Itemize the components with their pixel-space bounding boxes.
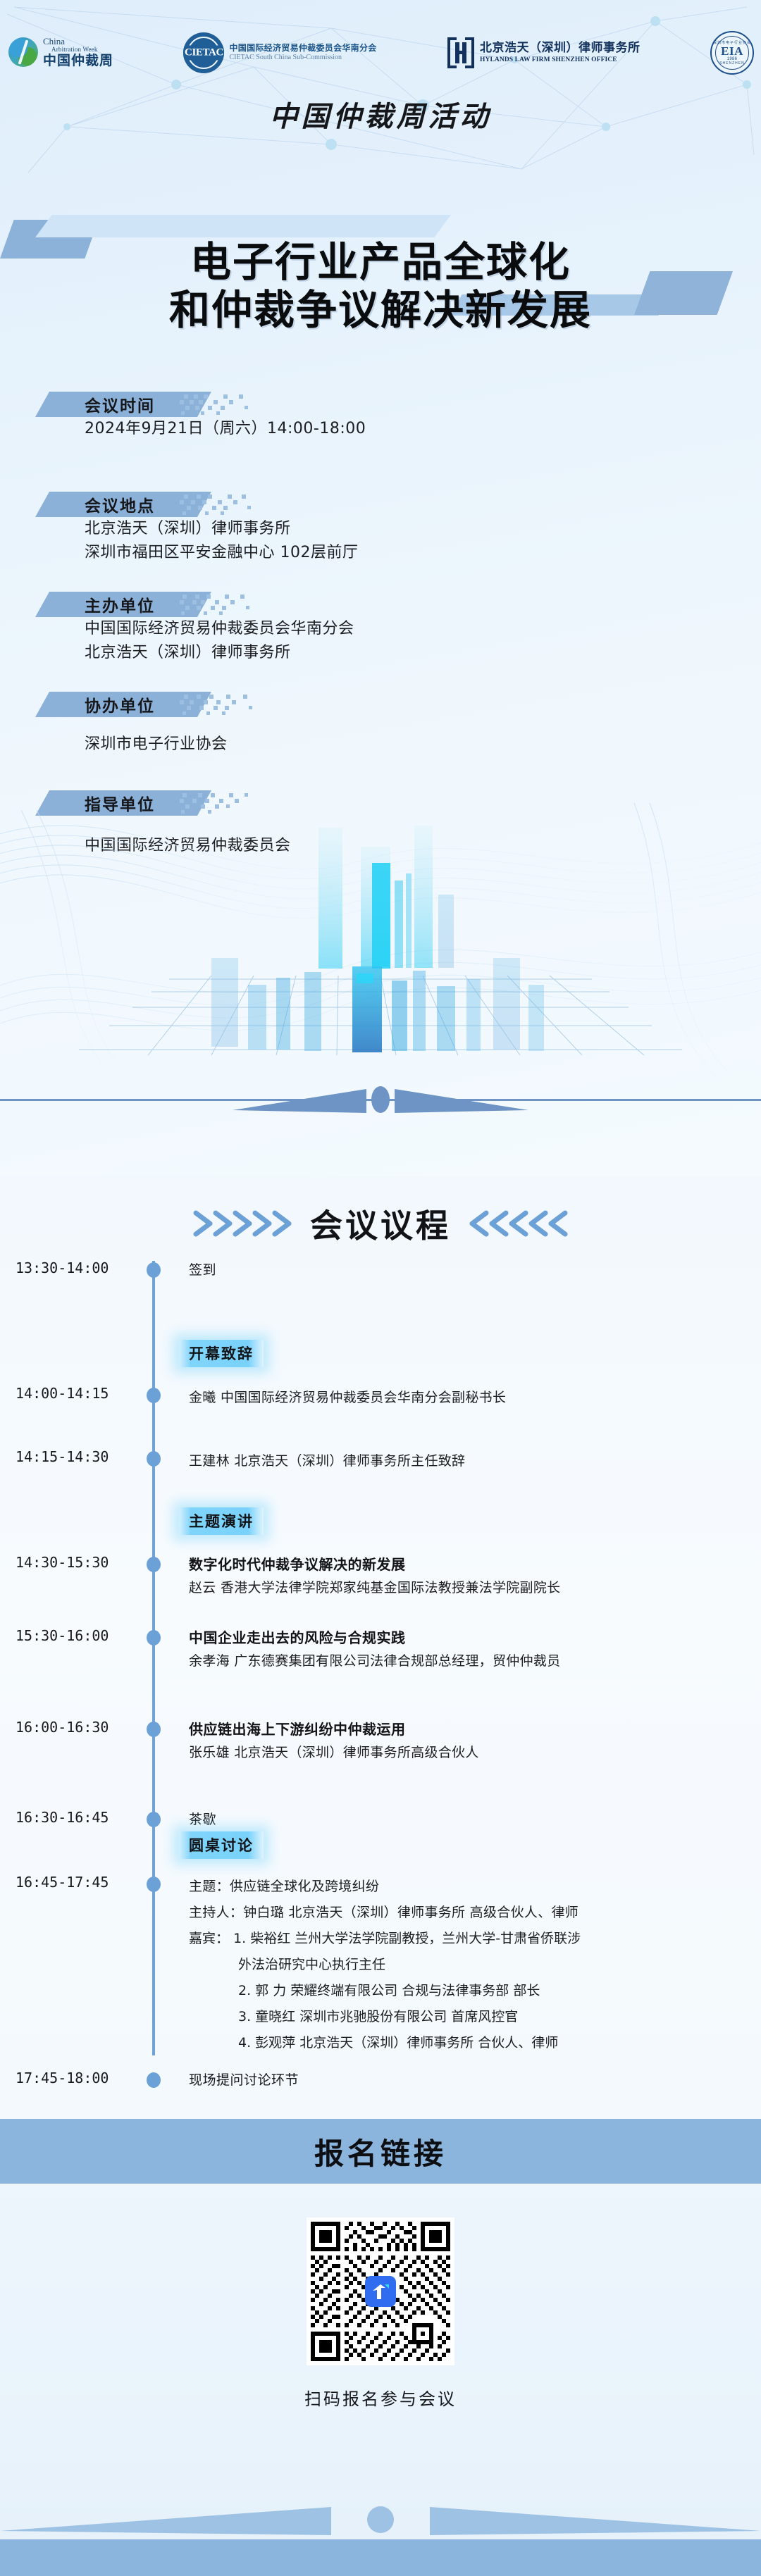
- roundtable-topic: 主题：供应链全球化及跨境纠纷: [189, 1874, 738, 1900]
- roundtable-guest-1: 1. 柴裕红 兰州大学法学院副教授，兰州大学-甘肃省侨联涉: [233, 1931, 581, 1946]
- caw-en-line1: China: [43, 37, 113, 46]
- cietac-mark-text: CIETAC: [183, 45, 224, 60]
- agenda-heading: 会议议程: [310, 1200, 451, 1247]
- eia-mark-text: EIA: [721, 45, 743, 57]
- info-label-text: 会议时间: [35, 392, 155, 416]
- pixel-dots-decoration: [180, 593, 264, 616]
- agenda-row-speaker: 赵云 香港大学法律学院郑家纯基金国际法教授兼法学院副院长: [189, 1575, 738, 1601]
- info-label-co-organizer: 协办单位: [35, 692, 268, 717]
- agenda-timeline-axis: [152, 1261, 155, 2055]
- wechat-work-icon: [365, 2276, 396, 2307]
- agenda-row-time: 14:30-15:30: [16, 1554, 142, 1571]
- info-block-co-organizer: 协办单位 深圳市电子行业协会: [35, 692, 402, 757]
- timeline-dot: [147, 2072, 161, 2088]
- info-value: 深圳市电子行业协会: [35, 717, 402, 757]
- roundtable-guests-label: 嘉宾：: [189, 1931, 229, 1946]
- register-caption: 扫码报名参与会议: [0, 2385, 761, 2410]
- caw-en-line2: Arbitration Week: [43, 46, 113, 53]
- register-section: 报名链接: [0, 2119, 761, 2576]
- logo-strip: China Arbitration Week 中国仲裁周 CIETAC 中国国际…: [0, 15, 761, 89]
- china-arbitration-week-icon: [8, 37, 38, 67]
- agenda-row-text: 现场提问讨论环节: [189, 2070, 738, 2089]
- agenda-row-text: 签到: [189, 1259, 738, 1278]
- register-title: 报名链接: [314, 2130, 447, 2173]
- info-label-organizers: 主办单位: [35, 592, 268, 617]
- roundtable-guest: 嘉宾： 1. 柴裕红 兰州大学法学院副教授，兰州大学-甘肃省侨联涉: [189, 1926, 738, 1952]
- register-title-bar: 报名链接: [0, 2119, 761, 2184]
- agenda-row-time: 14:15-14:30: [16, 1448, 142, 1465]
- agenda-row-time: 14:00-14:15: [16, 1385, 142, 1402]
- cietac-cn-name: 中国国际经济贸易仲裁委员会华南分会: [229, 43, 376, 54]
- timeline-dot: [147, 1557, 161, 1572]
- info-label-text: 指导单位: [35, 791, 155, 815]
- agenda-row-title: 供应链出海上下游纠纷中仲裁运用: [189, 1719, 738, 1740]
- hylands-en-name: HYLANDS LAW FIRM SHENZHEN OFFICE: [480, 56, 641, 64]
- page-title-line1: 电子行业产品全球化: [0, 238, 761, 286]
- page-title: 电子行业产品全球化 和仲裁争议解决新发展: [0, 238, 761, 335]
- caw-cn-name: 中国仲裁周: [43, 54, 113, 68]
- roundtable-guest-1-cont: 外法治研究中心执行主任: [189, 1952, 738, 1978]
- info-label-venue: 会议地点: [35, 492, 268, 517]
- agenda-row-speaker: 王建林 北京浩天（深圳）律师事务所主任致辞: [189, 1448, 738, 1474]
- timeline-dot: [147, 1262, 161, 1278]
- agenda-row-text: 茶歇: [189, 1809, 738, 1828]
- pixel-dots-decoration: [180, 493, 264, 516]
- agenda-badge-opening: 开幕致辞: [179, 1340, 264, 1367]
- agenda-row-speaker: 余孝海 广东德赛集团有限公司法律合规部总经理，贸仲仲裁员: [189, 1648, 738, 1674]
- agenda-badge-roundtable: 圆桌讨论: [179, 1831, 264, 1859]
- poster-root: China Arbitration Week 中国仲裁周 CIETAC 中国国际…: [0, 0, 761, 2576]
- info-block-organizers: 主办单位 中国国际经济贸易仲裁委员会华南分会 北京浩天（深圳）律师事务所: [35, 592, 402, 665]
- agenda-row-time: 15:30-16:00: [16, 1627, 142, 1644]
- agenda-badge-keynote: 主题演讲: [179, 1507, 264, 1535]
- agenda-row-time: 13:30-14:00: [16, 1259, 142, 1276]
- timeline-dot: [147, 1812, 161, 1827]
- info-label-text: 会议地点: [35, 492, 155, 516]
- info-value: 北京浩天（深圳）律师事务所: [35, 641, 402, 665]
- timeline-dot: [147, 1630, 161, 1645]
- roundtable-guest-4: 4. 彭观萍 北京浩天（深圳）律师事务所 合伙人、律师: [189, 2030, 738, 2056]
- roundtable-host: 主持人：钟白璐 北京浩天（深圳）律师事务所 高级合伙人、律师: [189, 1900, 738, 1926]
- agenda-row-time: 16:00-16:30: [16, 1719, 142, 1736]
- pixel-dots-decoration: [180, 393, 264, 416]
- info-label-text: 协办单位: [35, 692, 155, 716]
- info-block-venue: 会议地点 北京浩天（深圳）律师事务所 深圳市福田区平安金融中心 102层前厅: [35, 492, 402, 565]
- bowtie-ornament: [233, 1076, 528, 1116]
- roundtable-guest-2: 2. 郭 力 荣耀终端有限公司 合规与法律事务部 部长: [189, 1978, 738, 2004]
- agenda-row-title: 数字化时代仲裁争议解决的新发展: [189, 1554, 738, 1575]
- bottom-accent-bar: [0, 2539, 761, 2576]
- hylands-cn-name: 北京浩天（深圳）律师事务所: [480, 40, 641, 56]
- registration-qr-code[interactable]: [307, 2217, 454, 2365]
- city-skyline-decoration: [0, 796, 761, 1106]
- agenda-row-time: 16:30-16:45: [16, 1809, 142, 1826]
- logo-china-arbitration-week: China Arbitration Week 中国仲裁周: [8, 37, 113, 68]
- chevron-right-group-icon: [192, 1207, 297, 1240]
- timeline-dot: [147, 1388, 161, 1403]
- bottom-bowtie-ornament: [0, 2500, 761, 2537]
- agenda-row-speaker: 金曦 中国国际经济贸易仲裁委员会华南分会副秘书长: [189, 1385, 738, 1411]
- cietac-en-name: CIETAC South China Sub-Commission: [229, 54, 376, 63]
- logo-eia-shenzhen: 深圳市电子行业协会 EIA 1986 SHENZHEN: [710, 31, 754, 75]
- info-value: 2024年9月21日（周六）14:00-18:00: [35, 417, 402, 441]
- timeline-dot: [147, 1451, 161, 1467]
- cietac-globe-icon: CIETAC: [183, 32, 224, 73]
- info-label-time: 会议时间: [35, 392, 268, 417]
- agenda-row-title: 中国企业走出去的风险与合规实践: [189, 1627, 738, 1648]
- info-value: 中国国际经济贸易仲裁委员会华南分会: [35, 617, 402, 641]
- page-title-line2: 和仲裁争议解决新发展: [0, 286, 761, 334]
- hylands-bracket-icon: [447, 36, 475, 70]
- agenda-row-time: 17:45-18:00: [16, 2070, 142, 2086]
- logo-cietac-south-china: CIETAC 中国国际经济贸易仲裁委员会华南分会 CIETAC South Ch…: [183, 32, 376, 73]
- event-series-title: 中国仲裁周活动: [0, 94, 761, 135]
- hero-section: China Arbitration Week 中国仲裁周 CIETAC 中国国际…: [0, 0, 761, 1176]
- timeline-dot: [147, 1877, 161, 1892]
- info-value: 深圳市福田区平安金融中心 102层前厅: [35, 541, 402, 565]
- roundtable-guest-3: 3. 童晓红 深圳市兆驰股份有限公司 首席风控官: [189, 2004, 738, 2030]
- info-label-text: 主办单位: [35, 592, 155, 616]
- eia-city: SHENZHEN: [719, 61, 745, 66]
- logo-hylands-shenzhen: 北京浩天（深圳）律师事务所 HYLANDS LAW FIRM SHENZHEN …: [447, 36, 641, 70]
- info-block-time: 会议时间 2024年9月21日（周六）14:00-18:00: [35, 392, 402, 441]
- agenda-row-time: 16:45-17:45: [16, 1874, 142, 1891]
- agenda-section: 会议议程 13:30-14:00 签到 开幕致辞 14:00-14:: [0, 1176, 761, 2119]
- info-value: 北京浩天（深圳）律师事务所: [35, 517, 402, 541]
- title-slab-left-light: [35, 215, 451, 237]
- timeline-dot: [147, 1722, 161, 1737]
- agenda-header: 会议议程: [0, 1197, 761, 1250]
- pixel-dots-decoration: [180, 693, 264, 716]
- agenda-row-speaker: 张乐雄 北京浩天（深圳）律师事务所高级合伙人: [189, 1740, 738, 1766]
- chevron-left-group-icon: [464, 1207, 569, 1240]
